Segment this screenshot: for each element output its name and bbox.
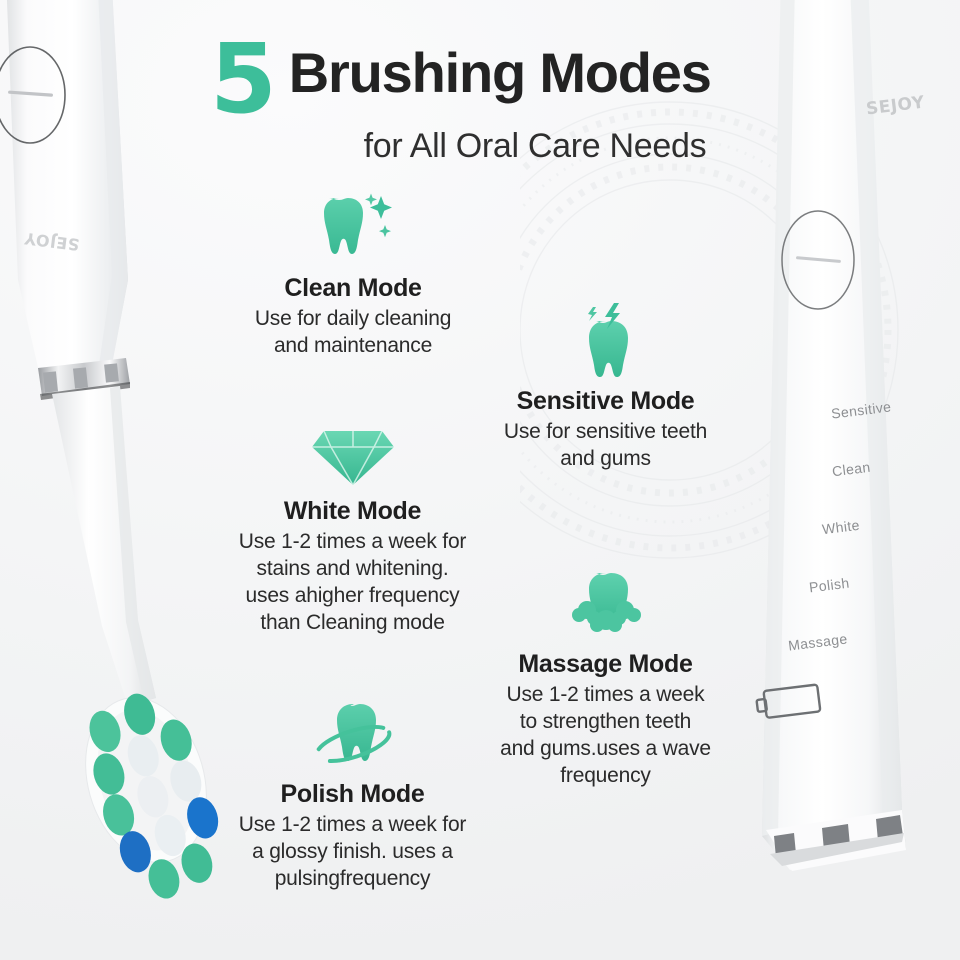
diamond-icon: [200, 415, 505, 489]
mode-title-massage: Massage Mode: [478, 650, 733, 679]
handle-label-polish: Polish: [808, 575, 850, 596]
brand-logo-right: SEJOY: [865, 92, 926, 119]
power-button-right: [782, 211, 854, 309]
product-infographic: SEJOY: [0, 0, 960, 960]
tooth-lightning-icon: [478, 305, 733, 379]
handle-label-clean: Clean: [831, 459, 871, 480]
mode-desc-sensitive: Use for sensitive teeth and gums: [478, 419, 733, 473]
handle-label-massage: Massage: [787, 630, 848, 653]
mode-block-white: White Mode Use 1-2 times a week for stai…: [200, 415, 505, 637]
battery-icon: [756, 685, 821, 719]
page-subtitle: for All Oral Care Needs: [210, 127, 800, 166]
mode-desc-polish: Use 1-2 times a week for a glossy finish…: [205, 812, 500, 893]
handle-label-white: White: [821, 517, 860, 537]
mode-desc-massage: Use 1-2 times a week to strengthen teeth…: [478, 682, 733, 790]
mode-desc-clean: Use for daily cleaning and maintenance: [218, 306, 488, 360]
tooth-orbit-icon: [205, 698, 500, 772]
mode-title-clean: Clean Mode: [218, 274, 488, 303]
mode-block-polish: Polish Mode Use 1-2 times a week for a g…: [205, 698, 500, 893]
mode-block-massage: Massage Mode Use 1-2 times a week to str…: [478, 568, 733, 790]
power-button-left: [0, 47, 65, 143]
page-title: Brushing Modes: [289, 34, 711, 101]
mode-title-polish: Polish Mode: [205, 780, 500, 809]
headline-block: 5 Brushing Modes for All Oral Care Needs: [210, 34, 800, 166]
mode-desc-white: Use 1-2 times a week for stains and whit…: [200, 529, 505, 637]
brand-logo-left: SEJOY: [23, 229, 80, 255]
tooth-sparkle-icon: [218, 192, 488, 266]
mode-block-clean: Clean Mode Use for daily cleaning and ma…: [218, 192, 488, 360]
handle-label-sensitive: Sensitive: [830, 398, 892, 421]
tooth-bubbles-icon: [478, 568, 733, 642]
mode-block-sensitive: Sensitive Mode Use for sensitive teeth a…: [478, 305, 733, 473]
mode-title-sensitive: Sensitive Mode: [478, 387, 733, 416]
mode-title-white: White Mode: [200, 497, 505, 526]
mode-count-number: 5: [210, 34, 275, 125]
